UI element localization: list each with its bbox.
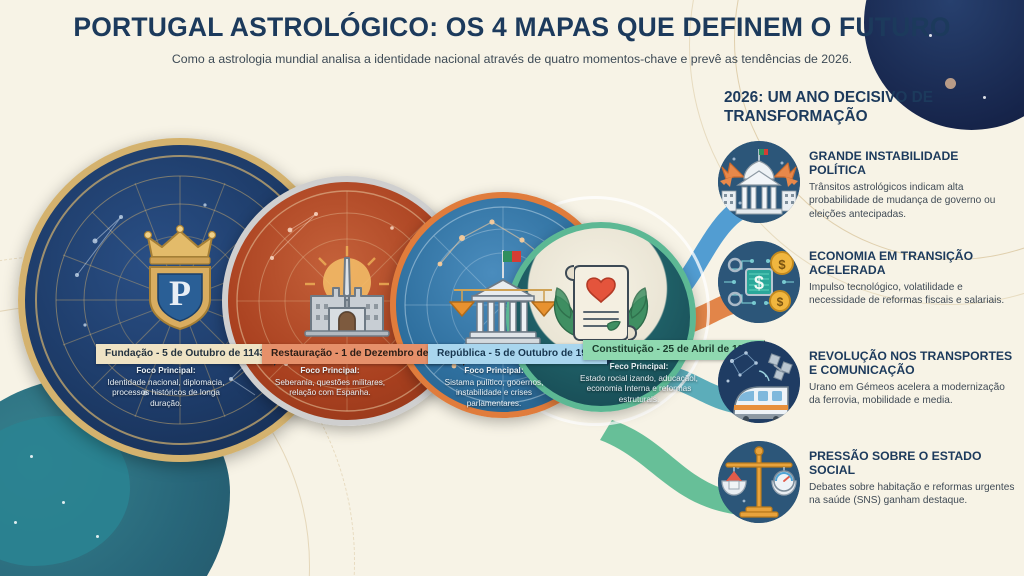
prediction-heading: GRANDE INSTABILIDADE POLÍTICA — [809, 149, 1018, 178]
svg-text:$: $ — [754, 273, 764, 293]
castle-sword-icon — [295, 242, 399, 342]
page-subtitle: Como a astrologia mundial analisa a iden… — [0, 52, 1024, 66]
focus-text-republica: Foco Principal: Sistama pulítico, gooern… — [432, 366, 556, 410]
predictions-title: 2026: UM ANO DECISIVO DE TRANSFORMAÇÃO — [724, 88, 1018, 127]
page-title: PORTUGAL ASTROLÓGICO: OS 4 MAPAS QUE DEF… — [0, 12, 1024, 43]
focus-text-constituicao: Feco Principal: Estado rocial izando, ad… — [580, 362, 698, 406]
focus-label: Foco Principal: — [104, 366, 228, 377]
prediction-heading: REVOLUÇÃO NOS TRANSPORTES E COMUNICAÇÃO — [809, 349, 1018, 378]
banner-label: Fundação - 5 de Outubro de 1143 — [105, 348, 265, 359]
prediction-item-social[interactable]: PRESSÃO SOBRE O ESTADO SOCIAL Debates so… — [718, 441, 1018, 531]
focus-body: Seberania, questões militares, relação c… — [275, 378, 385, 398]
train-satellite-icon — [718, 341, 800, 423]
prediction-item-politica[interactable]: GRANDE INSTABILIDADE POLÍTICA Trânsitos … — [718, 141, 1018, 231]
infographic-canvas: PORTUGAL ASTROLÓGICO: OS 4 MAPAS QUE DEF… — [0, 0, 1024, 576]
header: PORTUGAL ASTROLÓGICO: OS 4 MAPAS QUE DEF… — [0, 12, 1024, 66]
crown-shield-icon: P — [134, 223, 226, 333]
svg-text:$: $ — [778, 257, 786, 272]
predictions-column: 2026: UM ANO DECISIVO DE TRANSFORMAÇÃO — [718, 88, 1018, 541]
prediction-description: Trânsitos astrológicos indicam alta prob… — [809, 181, 1018, 222]
prediction-heading: PRESSÃO SOBRE O ESTADO SOCIAL — [809, 449, 1018, 478]
prediction-item-transportes[interactable]: REVOLUÇÃO NOS TRANSPORTES E COMUNICAÇÃO … — [718, 341, 1018, 431]
prediction-item-economia[interactable]: $ $ $ ECONOMIA EM TRANSIÇÃO ACELERADA Im… — [718, 241, 1018, 331]
focus-text-fundacao: Foco Principal: Identidade nacional, dip… — [104, 366, 228, 410]
banner-label: Restauração - 1 de Dezembro de 1640 — [271, 348, 454, 359]
prediction-body: REVOLUÇÃO NOS TRANSPORTES E COMUNICAÇÃO … — [809, 341, 1018, 408]
banner-label: República - 5 de Outubro de 1910 — [437, 348, 598, 359]
banner-fundacao[interactable]: Fundação - 5 de Outubro de 1143 — [96, 344, 274, 364]
focus-label: Foco Principal: — [268, 366, 392, 377]
scroll-heart-icon — [546, 254, 656, 350]
focus-body: Sistama pulítico, gooernos, instabilidad… — [445, 378, 544, 408]
prediction-body: PRESSÃO SOBRE O ESTADO SOCIAL Debates so… — [809, 441, 1018, 508]
prediction-body: ECONOMIA EM TRANSIÇÃO ACELERADA Impulso … — [809, 241, 1018, 308]
svg-text:$: $ — [777, 295, 784, 309]
circuit-dollar-icon: $ $ $ — [718, 241, 800, 323]
parliament-arrows-icon — [718, 141, 800, 223]
shield-letter: P — [169, 273, 191, 313]
prediction-description: Urano em Gémeos acelera a modernização d… — [809, 381, 1018, 408]
scales-house-icon — [718, 441, 800, 523]
prediction-body: GRANDE INSTABILIDADE POLÍTICA Trânsitos … — [809, 141, 1018, 222]
prediction-description: Debates sobre habitação e reformas urgen… — [809, 481, 1018, 508]
focus-body: Identidade nacional, diplomacia, process… — [108, 378, 225, 408]
focus-label: Foco Principal: — [432, 366, 556, 377]
prediction-heading: ECONOMIA EM TRANSIÇÃO ACELERADA — [809, 249, 1018, 278]
banner-republica[interactable]: República - 5 de Outubro de 1910 — [428, 344, 607, 364]
prediction-description: Impulso tecnológico, volatilidade e nece… — [809, 281, 1018, 308]
focus-body: Estado rocial izando, aducaçãol, economi… — [580, 374, 698, 404]
focus-text-restauracao: Foco Principal: Seberania, questões mili… — [268, 366, 392, 399]
parliament-scales-icon — [444, 246, 562, 350]
